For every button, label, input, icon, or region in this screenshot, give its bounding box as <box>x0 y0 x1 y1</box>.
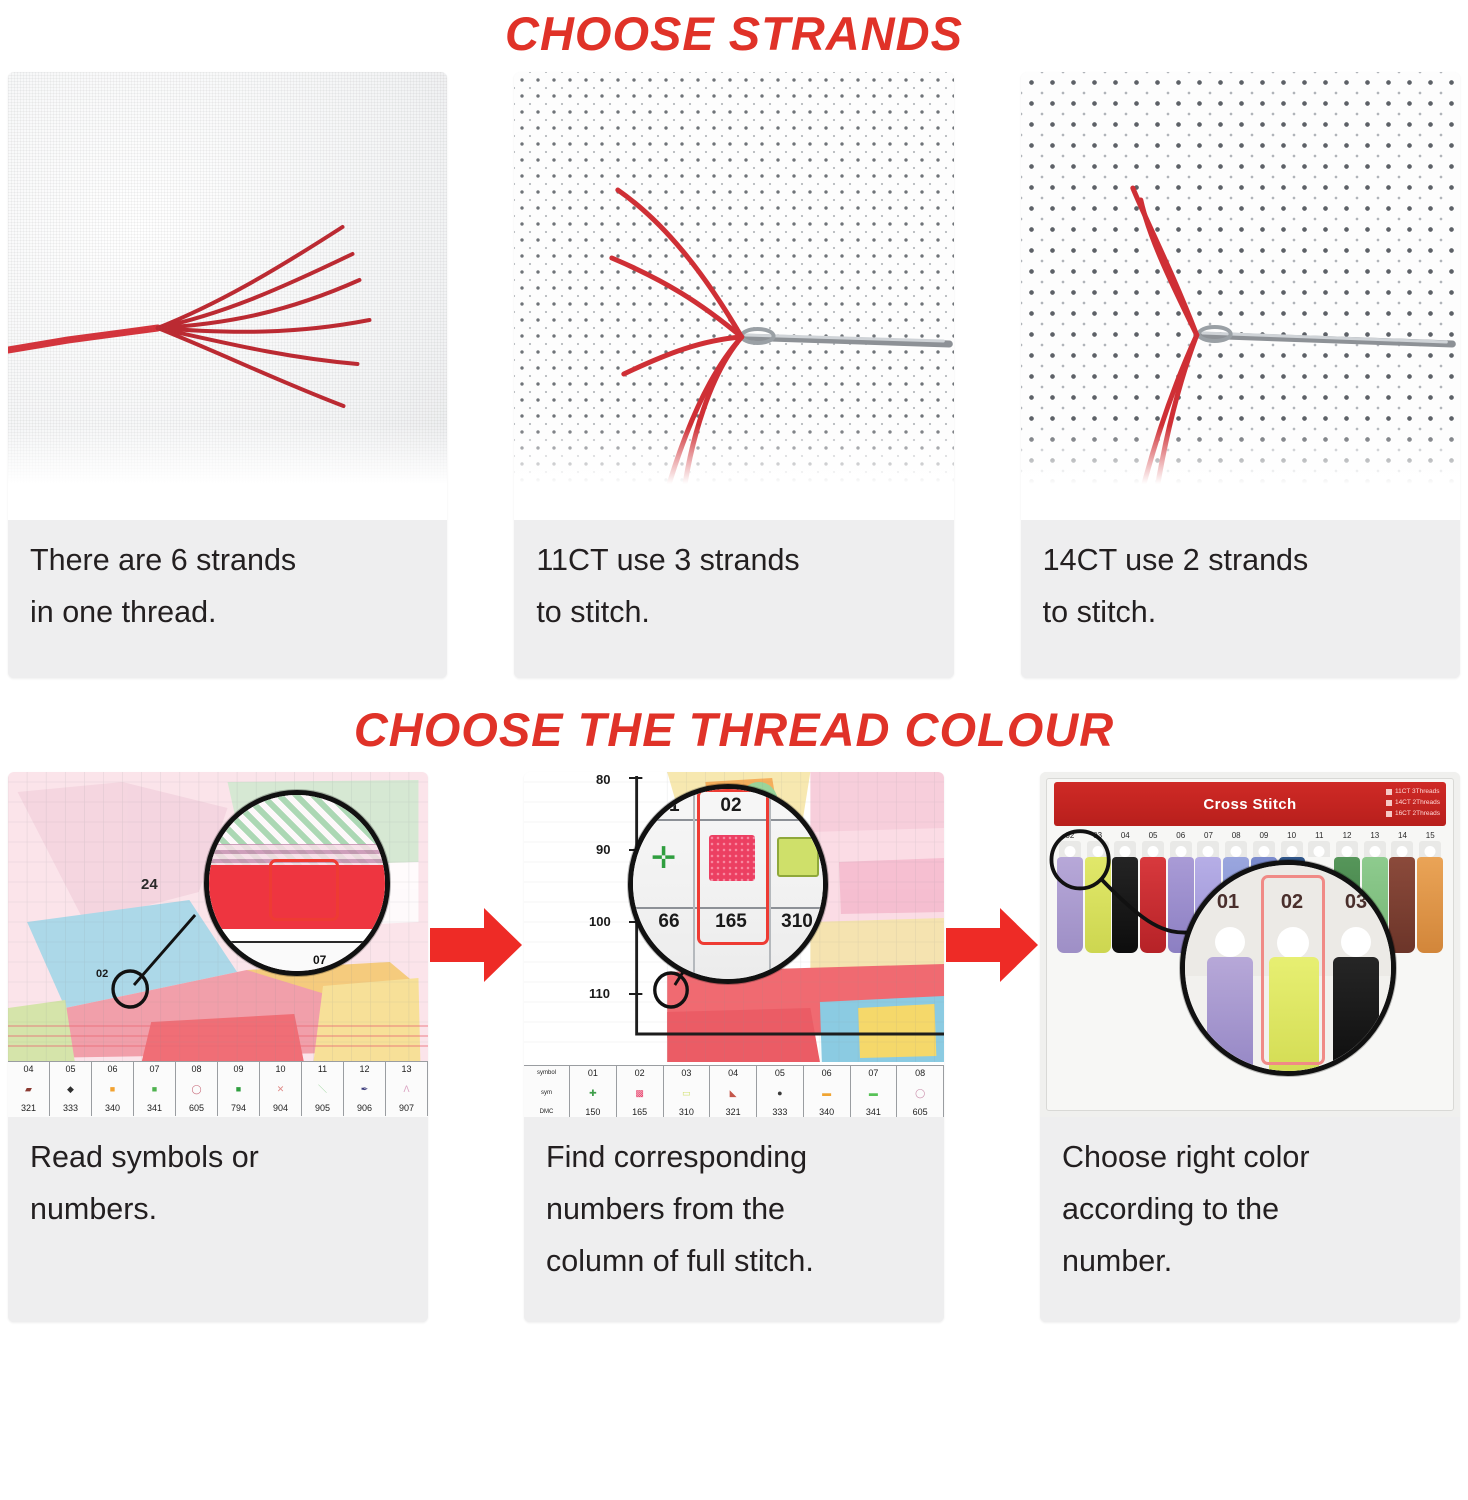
needle-icon <box>1196 327 1452 344</box>
strands-panel-row: There are 6 strands in one thread. <box>0 72 1468 678</box>
thread-skein <box>1389 857 1415 953</box>
legend-symbol: ■ <box>218 1077 260 1101</box>
peg-card <box>1225 841 1247 857</box>
magnifier-peg-number: 03 <box>1327 891 1385 914</box>
legend-number: 06 <box>92 1062 134 1077</box>
photo-pattern-chart: 24 02 06 07 04 <box>8 772 428 1117</box>
caption-six-strands: There are 6 strands in one thread. <box>8 520 447 678</box>
peg-number: 06 <box>1167 830 1195 841</box>
caption-line-2: to stitch. <box>536 586 931 638</box>
legend-number: 05 <box>757 1066 804 1081</box>
needle-icon <box>742 329 950 344</box>
peg-number: 13 <box>1361 830 1389 841</box>
page-title-choose-strands: CHOOSE STRANDS <box>0 0 1468 64</box>
legend-code: 165 <box>617 1105 664 1117</box>
legend-symbol-row: ▰ ◆ ■ ■ ◯ ■ ✕ ＼ ✒ Λ <box>8 1077 428 1101</box>
legend-code: 605 <box>897 1105 944 1117</box>
arrow-step-2-to-3 <box>944 772 1040 1117</box>
panel-14ct-two-strands: 14CT use 2 strands to stitch. <box>1021 72 1460 678</box>
magnifier-dmc-code: 66 <box>643 911 695 933</box>
legend-number: 08 <box>897 1066 944 1081</box>
page-title-choose-thread-colour: CHOOSE THE THREAD COLOUR <box>0 700 1468 760</box>
legend-symbol: ◆ <box>50 1077 92 1101</box>
legend-symbol: ◣ <box>710 1081 757 1105</box>
peg-card <box>1197 841 1219 857</box>
legend-number: 07 <box>851 1066 898 1081</box>
legend-code: 310 <box>664 1105 711 1117</box>
photo-thread-card: Cross Stitch 11CT 3Threads 14CT 2Threads… <box>1040 772 1460 1117</box>
thread-peg: 03 <box>1084 830 1112 953</box>
legend-number: 10 <box>260 1062 302 1077</box>
legend-code: 341 <box>134 1101 176 1116</box>
legend-number: 04 <box>8 1062 50 1077</box>
thread-peg: 04 <box>1111 830 1139 953</box>
peg-number: 15 <box>1416 830 1444 841</box>
legend-symbol: Λ <box>386 1077 428 1101</box>
legend-number: 11 <box>302 1062 344 1077</box>
peg-card <box>1170 841 1192 857</box>
legend-number-row: symbol 01 02 03 04 05 06 07 08 <box>524 1066 944 1081</box>
colour-panel-row: 24 02 06 07 04 <box>0 772 1468 1322</box>
magnifier-symbol-cross: ✛ <box>651 829 676 889</box>
axis-row-label: 100 <box>589 914 611 929</box>
photo-11ct <box>514 72 953 520</box>
peg-number: 05 <box>1139 830 1167 841</box>
panel-11ct-three-strands: 11CT use 3 strands to stitch. <box>514 72 953 678</box>
legend-symbol: ✒ <box>344 1077 386 1101</box>
panel-choose-colour: Cross Stitch 11CT 3Threads 14CT 2Threads… <box>1040 772 1460 1322</box>
legend-symbol: ＼ <box>302 1077 344 1101</box>
arrow-step-1-to-2 <box>428 772 524 1117</box>
peg-card <box>1336 841 1358 857</box>
caption-line-3: column of full stitch. <box>546 1235 922 1287</box>
thread-peg: 14 <box>1389 830 1417 953</box>
peg-number: 09 <box>1250 830 1278 841</box>
highlight-box-pattern <box>269 859 339 921</box>
legend-number: 03 <box>664 1066 711 1081</box>
legend-code: 340 <box>804 1105 851 1117</box>
axis-row-label: 90 <box>596 842 610 857</box>
photo-fade <box>1021 425 1460 520</box>
legend-code: 340 <box>92 1101 134 1116</box>
stitch-legend-strip: symbol 01 02 03 04 05 06 07 08 sym ✚ ▩ <box>524 1065 944 1117</box>
caption-line-1: 11CT use 3 strands <box>536 534 931 586</box>
thread-peg: 02 <box>1056 830 1084 953</box>
peg-card <box>1364 841 1386 857</box>
card-option: 14CT 2Threads <box>1386 797 1440 808</box>
card-options-list: 11CT 3Threads 14CT 2Threads 16CT 2Thread… <box>1386 786 1440 819</box>
checkbox-icon <box>1386 811 1392 817</box>
thread-skein <box>1417 857 1443 953</box>
axis-row-label: 110 <box>589 986 610 1001</box>
legend-code: 906 <box>344 1101 386 1116</box>
legend-number: 05 <box>50 1062 92 1077</box>
legend-symbol: ▬ <box>804 1081 851 1105</box>
caption-line-1: There are 6 strands <box>30 534 425 586</box>
caption-line-2: numbers from the <box>546 1183 922 1235</box>
magnifier-label-right: 07 <box>313 953 326 967</box>
legend-code-row: 321 333 340 341 605 794 904 905 906 907 <box>8 1101 428 1116</box>
peg-number: 02 <box>1056 830 1084 841</box>
checkbox-icon <box>1386 789 1392 795</box>
peg-card <box>1391 841 1413 857</box>
caption-find-numbers: Find corresponding numbers from the colu… <box>524 1117 944 1322</box>
peg-hole <box>1341 927 1371 957</box>
magnifier-label-left: 06 <box>233 953 246 967</box>
magnifier-column-number: 01 <box>643 795 695 817</box>
card-option: 16CT 2Threads <box>1386 808 1440 819</box>
legend-symbol-row: sym ✚ ▩ ▭ ◣ ● ▬ ▬ ◯ <box>524 1081 944 1105</box>
peg-hole <box>1215 927 1245 957</box>
caption-line-1: 14CT use 2 strands <box>1043 534 1438 586</box>
infographic-page: CHOOSE STRANDS <box>0 0 1468 1500</box>
peg-card <box>1281 841 1303 857</box>
thread-skein <box>1057 857 1083 953</box>
magnifier-dmc-code: 310 <box>769 911 825 933</box>
legend-symbol: ✚ <box>570 1081 617 1105</box>
peg-number: 03 <box>1084 830 1112 841</box>
caption-11ct: 11CT use 3 strands to stitch. <box>514 520 953 678</box>
caption-read-symbols: Read symbols or numbers. <box>8 1117 428 1322</box>
legend-code: 794 <box>218 1101 260 1116</box>
legend-row-title-dmc: DMC <box>524 1105 570 1117</box>
panel-six-strands: There are 6 strands in one thread. <box>8 72 447 678</box>
legend-number: 01 <box>570 1066 617 1081</box>
right-arrow-icon <box>430 906 522 984</box>
panel-read-symbols: 24 02 06 07 04 <box>8 772 428 1322</box>
caption-line-2: according to the <box>1062 1183 1438 1235</box>
peg-number: 12 <box>1333 830 1361 841</box>
legend-code: 321 <box>8 1101 50 1116</box>
legend-code: 905 <box>302 1101 344 1116</box>
caption-14ct: 14CT use 2 strands to stitch. <box>1021 520 1460 678</box>
legend-number: 13 <box>386 1062 428 1077</box>
chart-row-marker: 24 <box>141 876 158 893</box>
peg-card <box>1253 841 1275 857</box>
legend-symbol: ◯ <box>897 1081 944 1105</box>
peg-card <box>1087 841 1109 857</box>
peg-number: 08 <box>1222 830 1250 841</box>
peg-number: 07 <box>1195 830 1223 841</box>
peg-card <box>1142 841 1164 857</box>
legend-code: 904 <box>260 1101 302 1116</box>
legend-row-title: symbol <box>524 1066 570 1081</box>
legend-number: 09 <box>218 1062 260 1077</box>
legend-code: 605 <box>176 1101 218 1116</box>
caption-line-1: Read symbols or <box>30 1131 406 1183</box>
legend-symbol: ▭ <box>664 1081 711 1105</box>
thread-skein <box>1112 857 1138 953</box>
peg-number: 11 <box>1305 830 1333 841</box>
legend-number: 08 <box>176 1062 218 1077</box>
peg-card <box>1419 841 1441 857</box>
legend-number-row: 04 05 06 07 08 09 10 11 12 13 <box>8 1062 428 1077</box>
photo-fade <box>8 425 447 520</box>
card-option: 11CT 3Threads <box>1386 786 1440 797</box>
thread-skein <box>1140 857 1166 953</box>
thread-peg: 05 <box>1139 830 1167 953</box>
axis-row-label: 80 <box>596 772 610 787</box>
caption-line-2: to stitch. <box>1043 586 1438 638</box>
legend-code: 907 <box>386 1101 428 1116</box>
legend-symbol: ■ <box>92 1077 134 1101</box>
legend-code: 341 <box>851 1105 898 1117</box>
caption-choose-colour: Choose right color according to the numb… <box>1040 1117 1460 1322</box>
magnifier-peg-number: 01 <box>1199 891 1257 914</box>
legend-symbol: ▰ <box>8 1077 50 1101</box>
caption-line-3: number. <box>1062 1235 1438 1287</box>
peg-number: 10 <box>1278 830 1306 841</box>
magnifier-number-detail: 01 02 03 ✛ 66 165 310 <box>628 784 828 984</box>
right-arrow-icon <box>946 906 1038 984</box>
legend-code-row: DMC 150 165 310 321 333 340 341 605 <box>524 1105 944 1117</box>
magnifier-skein <box>1333 957 1379 1076</box>
legend-symbol: ✕ <box>260 1077 302 1101</box>
caption-line-1: Choose right color <box>1062 1131 1438 1183</box>
magnifier-skein <box>1207 957 1253 1076</box>
magnifier-pattern-detail: 06 07 <box>204 790 390 976</box>
legend-number: 12 <box>344 1062 386 1077</box>
panel-find-numbers: 80 90 100 110 01 02 03 ✛ <box>524 772 944 1322</box>
thread-peg: 15 <box>1416 830 1444 953</box>
legend-number: 06 <box>804 1066 851 1081</box>
card-title: Cross Stitch <box>1203 796 1296 813</box>
legend-row-title-symbol: sym <box>524 1081 570 1105</box>
legend-code: 333 <box>757 1105 804 1117</box>
legend-number: 04 <box>710 1066 757 1081</box>
peg-card <box>1059 841 1081 857</box>
legend-number: 02 <box>617 1066 664 1081</box>
pattern-legend-strip: 04 05 06 07 08 09 10 11 12 13 ▰ ◆ <box>8 1061 428 1117</box>
peg-card <box>1308 841 1330 857</box>
legend-number: 07 <box>134 1062 176 1077</box>
chart-column-label: 02 <box>96 968 108 980</box>
legend-code: 150 <box>570 1105 617 1117</box>
highlight-box-column <box>697 789 769 945</box>
legend-code: 321 <box>710 1105 757 1117</box>
magnifier-thread-detail: 01 02 03 <box>1180 860 1396 1076</box>
caption-line-1: Find corresponding <box>546 1131 922 1183</box>
photo-fade <box>514 425 953 520</box>
legend-symbol: ▩ <box>617 1081 664 1105</box>
photo-14ct <box>1021 72 1460 520</box>
checkbox-icon <box>1386 800 1392 806</box>
legend-symbol: ◯ <box>176 1077 218 1101</box>
magnifier-symbol-green-square <box>777 837 819 877</box>
highlight-box-thread <box>1261 875 1325 1065</box>
peg-card <box>1114 841 1136 857</box>
legend-symbol: ● <box>757 1081 804 1105</box>
legend-symbol: ▬ <box>851 1081 898 1105</box>
photo-six-strands <box>8 72 447 520</box>
photo-chart-columns: 80 90 100 110 01 02 03 ✛ <box>524 772 944 1117</box>
caption-line-2: in one thread. <box>30 586 425 638</box>
legend-symbol: ■ <box>134 1077 176 1101</box>
thread-skein <box>1085 857 1111 953</box>
legend-code: 333 <box>50 1101 92 1116</box>
magnifier-column-number: 03 <box>769 795 825 817</box>
caption-line-2: numbers. <box>30 1183 406 1235</box>
peg-number: 04 <box>1111 830 1139 841</box>
peg-number: 14 <box>1389 830 1417 841</box>
